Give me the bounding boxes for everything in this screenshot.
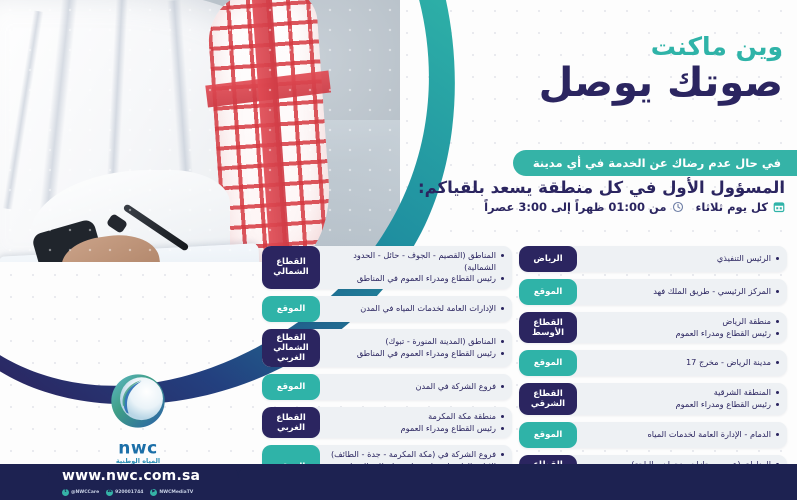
row-badge: الموقع bbox=[262, 374, 320, 400]
row-bullet: رئيس القطاع ومدراء العموم في المناطق bbox=[326, 348, 504, 360]
header-meta: كل يوم ثلاثاء من 01:00 ظهراً إلى 3:00 عص… bbox=[365, 200, 785, 214]
table-row[interactable]: المركز الرئيسي - طريق الملك فهدالموقع bbox=[519, 279, 787, 305]
table-row[interactable]: الرئيس التنفيذيالرياض bbox=[519, 246, 787, 272]
poster-canvas: وين ماكنت صوتك يوصل في حال عدم رضاك عن ا… bbox=[0, 0, 797, 500]
row-detail-cell: منطقة الرياضرئيس القطاع ومدراء العموم bbox=[577, 312, 787, 343]
row-bullet: المناطق (المدينة المنورة - تبوك) bbox=[326, 336, 504, 348]
row-detail-cell: المناطق (القصيم - الجوف - حائل - الحدود … bbox=[320, 246, 512, 289]
page-title: صوتك يوصل bbox=[363, 61, 783, 106]
row-bullet: رئيس القطاع ومدراء العموم في المناطق bbox=[326, 273, 504, 285]
row-detail-cell: المناطق (المدينة المنورة - تبوك)رئيس الق… bbox=[320, 329, 512, 367]
row-badge: الموقع bbox=[262, 296, 320, 322]
row-detail-cell: منطقة مكة المكرمةرئيس القطاع ومدراء العم… bbox=[320, 407, 512, 438]
header-pill: في حال عدم رضاك عن الخدمة في أي مدينة bbox=[513, 150, 797, 176]
table-row[interactable]: المناطق (القصيم - الجوف - حائل - الحدود … bbox=[262, 246, 512, 289]
table-row[interactable]: الإدارات العامة لخدمات المياه في المدنال… bbox=[262, 296, 512, 322]
table-row[interactable]: مدينة الرياض - مخرج 17الموقع bbox=[519, 350, 787, 376]
row-badge: القطاع الشمالي bbox=[262, 246, 320, 289]
meta-time: من 01:00 ظهراً إلى 3:00 عصراً bbox=[484, 200, 683, 214]
row-bullet: المركز الرئيسي - طريق الملك فهد bbox=[583, 286, 779, 298]
nwc-logo: nwc المياه الوطنية bbox=[88, 372, 188, 471]
social-link[interactable]: ☎920001744 bbox=[106, 489, 143, 496]
row-bullet: فروع الشركة في المدن bbox=[326, 381, 504, 393]
footer-bar: www.nwc.com.sa t@NWCCare☎920001744▶NWCMe… bbox=[0, 464, 797, 500]
row-bullet: الرئيس التنفيذي bbox=[583, 253, 779, 265]
social-link[interactable]: t@NWCCare bbox=[62, 489, 99, 496]
row-bullet: الإدارات العامة لخدمات المياه في المدن bbox=[326, 303, 504, 315]
row-bullet: رئيس القطاع ومدراء العموم bbox=[583, 328, 779, 340]
row-badge: الموقع bbox=[519, 422, 577, 448]
footer-wave bbox=[238, 464, 797, 488]
row-badge: القطاع الغربي bbox=[262, 407, 320, 438]
phone-icon: ☎ bbox=[106, 489, 113, 496]
row-bullet: رئيس القطاع ومدراء العموم bbox=[326, 423, 504, 435]
table-row[interactable]: منطقة مكة المكرمةرئيس القطاع ومدراء العم… bbox=[262, 407, 512, 438]
meta-day: كل يوم ثلاثاء bbox=[696, 200, 785, 214]
row-bullet: الدمام - الإدارة العامة لخدمات المياه bbox=[583, 429, 779, 441]
header-eyebrow: وين ماكنت bbox=[363, 34, 783, 59]
row-badge: القطاع الشمالي الغربي bbox=[262, 329, 320, 367]
row-detail-cell: المنطقة الشرقيةرئيس القطاع ومدراء العموم bbox=[577, 383, 787, 414]
table-row[interactable]: فروع الشركة في المدنالموقع bbox=[262, 374, 512, 400]
calendar-icon bbox=[773, 201, 785, 213]
header-subtitle: المسؤول الأول في كل منطقة يسعد بلقياكم: bbox=[365, 178, 785, 197]
row-bullet: المناطق (القصيم - الجوف - حائل - الحدود … bbox=[326, 250, 504, 273]
row-bullet: منطقة مكة المكرمة bbox=[326, 411, 504, 423]
sector-table-left: المناطق (القصيم - الجوف - حائل - الحدود … bbox=[262, 246, 512, 488]
row-bullet: رئيس القطاع ومدراء العموم bbox=[583, 399, 779, 411]
row-bullet: مدينة الرياض - مخرج 17 bbox=[583, 357, 779, 369]
social-handle: NWCMediaTV bbox=[159, 490, 193, 495]
sector-table-right: الرئيس التنفيذيالرياضالمركز الرئيسي - طر… bbox=[519, 246, 787, 500]
row-badge: الموقع bbox=[519, 279, 577, 305]
meta-time-text: من 01:00 ظهراً إلى 3:00 عصراً bbox=[484, 200, 666, 214]
website-url[interactable]: www.nwc.com.sa bbox=[62, 468, 200, 484]
row-detail-cell: مدينة الرياض - مخرج 17 bbox=[577, 350, 787, 376]
row-bullet: منطقة الرياض bbox=[583, 316, 779, 328]
twitter-icon: t bbox=[62, 489, 69, 496]
social-links: t@NWCCare☎920001744▶NWCMediaTV bbox=[62, 489, 193, 496]
row-bullet: المنطقة الشرقية bbox=[583, 387, 779, 399]
clock-icon bbox=[672, 201, 684, 213]
hero-photo bbox=[0, 0, 400, 262]
row-badge: الرياض bbox=[519, 246, 577, 272]
row-detail-cell: الإدارات العامة لخدمات المياه في المدن bbox=[320, 296, 512, 322]
row-detail-cell: الرئيس التنفيذي bbox=[577, 246, 787, 272]
table-row[interactable]: منطقة الرياضرئيس القطاع ومدراء العمومالق… bbox=[519, 312, 787, 343]
social-handle: 920001744 bbox=[115, 490, 143, 495]
svg-text:nwc: nwc bbox=[118, 439, 157, 459]
header-block: وين ماكنت صوتك يوصل bbox=[363, 34, 783, 106]
table-row[interactable]: الدمام - الإدارة العامة لخدمات المياهالم… bbox=[519, 422, 787, 448]
social-link[interactable]: ▶NWCMediaTV bbox=[150, 489, 193, 496]
youtube-icon: ▶ bbox=[150, 489, 157, 496]
table-row[interactable]: المنطقة الشرقيةرئيس القطاع ومدراء العموم… bbox=[519, 383, 787, 414]
row-detail-cell: الدمام - الإدارة العامة لخدمات المياه bbox=[577, 422, 787, 448]
row-badge: الموقع bbox=[519, 350, 577, 376]
row-badge: القطاع الشرقي bbox=[519, 383, 577, 414]
photo-dot-overlay bbox=[0, 0, 400, 262]
row-badge: القطاع الأوسط bbox=[519, 312, 577, 343]
nwc-wordmark: nwc المياه الوطنية bbox=[95, 437, 181, 467]
meta-day-text: كل يوم ثلاثاء bbox=[696, 200, 768, 214]
row-detail-cell: فروع الشركة في المدن bbox=[320, 374, 512, 400]
row-detail-cell: المركز الرئيسي - طريق الملك فهد bbox=[577, 279, 787, 305]
table-row[interactable]: المناطق (المدينة المنورة - تبوك)رئيس الق… bbox=[262, 329, 512, 367]
social-handle: @NWCCare bbox=[71, 490, 99, 495]
nwc-globe-icon bbox=[109, 372, 167, 430]
row-bullet: فروع الشركة في (مكة المكرمة - جدة - الطا… bbox=[326, 449, 504, 461]
